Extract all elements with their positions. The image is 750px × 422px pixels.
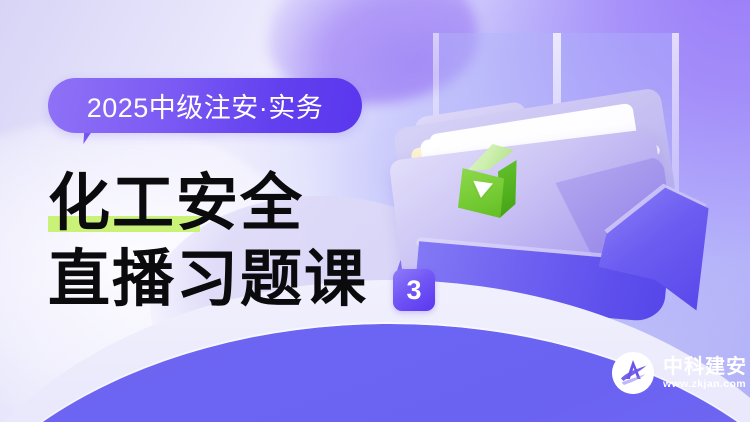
brand-logo-text: 中科建安 www.zkjan.com [663,357,747,390]
course-category-label: 2025中级注安·实务 [87,86,324,125]
cube-top-face [458,144,514,170]
brand-url: www.zkjan.com [663,379,747,390]
play-triangle-icon [471,181,493,200]
zkjan-circle-person-icon [612,352,654,394]
course-title-line-2-text: 直播习题课 [48,245,368,314]
course-title-line-1-text: 化工安全 [48,169,304,238]
brand-logo: 中科建安 www.zkjan.com [612,352,747,394]
course-title-line-1: 化工安全 [48,168,468,240]
green-play-cube-icon [458,144,530,220]
course-category-badge: 2025中级注安·实务 [48,78,362,133]
episode-number-badge: 3 [393,269,435,311]
episode-number-label: 3 [406,277,421,304]
brand-name: 中科建安 [663,357,747,377]
course-promo-banner: 2025中级注安·实务 化工安全 直播习题课 3 中科建安 www.zkjan.… [0,0,750,422]
